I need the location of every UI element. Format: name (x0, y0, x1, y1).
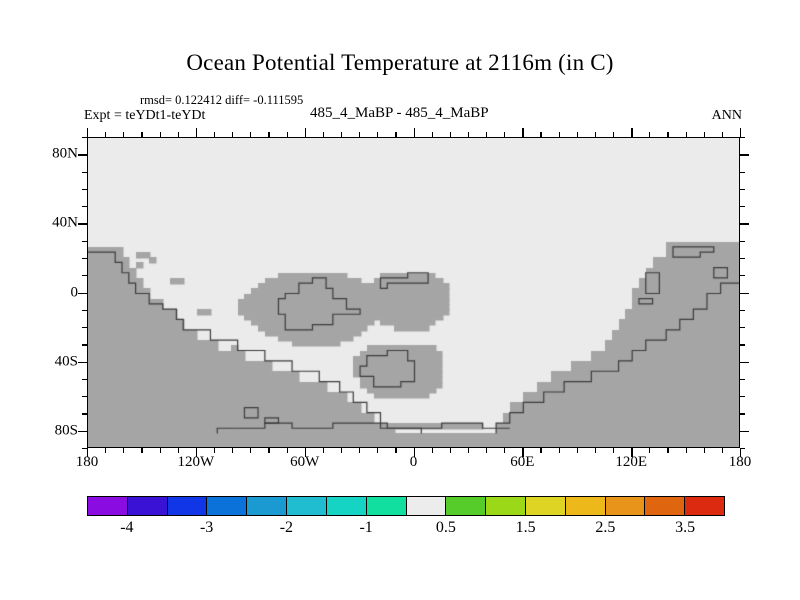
x-tick (105, 448, 106, 453)
x-tick (232, 448, 233, 453)
x-tick (667, 448, 668, 453)
colorbar-tick-label-1: -3 (200, 519, 213, 537)
x-tick (214, 448, 215, 453)
colorbar-swatch-5 (287, 497, 327, 515)
y-tick (82, 258, 87, 259)
y-tick-right (740, 327, 745, 328)
experiment-label: Expt = teYDt1-teYDt (84, 108, 205, 124)
x-axis-label-3: 0 (410, 454, 418, 471)
x-tick-top (250, 132, 251, 137)
y-tick-right (740, 362, 749, 363)
x-tick (722, 448, 723, 453)
x-tick (250, 448, 251, 453)
colorbar-swatch-14 (645, 497, 685, 515)
y-axis-label-2: 0 (71, 284, 79, 301)
x-tick-top (341, 132, 342, 137)
x-tick-top (395, 132, 396, 137)
y-tick-right (740, 206, 745, 207)
y-tick-right (740, 275, 745, 276)
y-tick (82, 379, 87, 380)
colorbar-tick-label-4: 0.5 (436, 519, 456, 537)
x-tick-top (305, 128, 306, 137)
x-tick (450, 448, 451, 453)
x-tick-top (160, 132, 161, 137)
y-tick (82, 344, 87, 345)
x-tick-top (722, 132, 723, 137)
x-tick-top (631, 128, 632, 137)
colorbar-tick-label-0: -4 (120, 519, 133, 537)
y-tick-right (740, 448, 745, 449)
colorbar-tick-label-3: -1 (359, 519, 372, 537)
x-tick-top (414, 128, 415, 137)
x-tick (268, 448, 269, 453)
y-tick-right (740, 258, 745, 259)
x-tick (704, 448, 705, 453)
x-tick-top (323, 132, 324, 137)
x-tick-top (268, 132, 269, 137)
y-tick (78, 362, 87, 363)
x-tick-top (486, 132, 487, 137)
y-tick (82, 137, 87, 138)
x-tick (141, 448, 142, 453)
x-tick (559, 448, 560, 453)
y-tick (82, 448, 87, 449)
y-tick (82, 327, 87, 328)
y-tick-right (740, 293, 749, 294)
x-axis-label-5: 120E (615, 454, 647, 471)
y-tick-right (740, 172, 745, 173)
colorbar-swatch-11 (526, 497, 566, 515)
y-tick-right (740, 189, 745, 190)
x-tick (359, 448, 360, 453)
x-tick-top (105, 132, 106, 137)
case-comparison-label: 485_4_MaBP - 485_4_MaBP (310, 105, 489, 122)
x-tick-top (504, 132, 505, 137)
y-tick (82, 172, 87, 173)
page-title: Ocean Potential Temperature at 2116m (in… (0, 50, 800, 76)
x-tick-top (595, 132, 596, 137)
colorbar-tick-label-2: -2 (280, 519, 293, 537)
x-tick (486, 448, 487, 453)
colorbar-swatch-13 (606, 497, 646, 515)
x-tick (649, 448, 650, 453)
y-tick (82, 241, 87, 242)
y-tick-right (740, 344, 745, 345)
x-tick (540, 448, 541, 453)
x-tick (613, 448, 614, 453)
x-tick-top (686, 132, 687, 137)
x-tick (287, 448, 288, 453)
colorbar-swatch-9 (446, 497, 486, 515)
x-axis-label-6: 180 (729, 454, 752, 471)
colorbar-swatch-1 (128, 497, 168, 515)
x-tick (341, 448, 342, 453)
x-tick-top (450, 132, 451, 137)
y-tick-right (740, 137, 745, 138)
x-axis-label-2: 60W (290, 454, 319, 471)
x-tick (468, 448, 469, 453)
ocean-temperature-map (88, 138, 740, 448)
x-tick-top (232, 132, 233, 137)
y-tick (82, 275, 87, 276)
map-plot-area (87, 137, 740, 448)
x-tick-top (287, 132, 288, 137)
colorbar-swatch-10 (486, 497, 526, 515)
x-tick-top (123, 132, 124, 137)
x-tick-top (649, 132, 650, 137)
x-tick-top (178, 132, 179, 137)
colorbar-swatch-12 (566, 497, 606, 515)
x-tick-top (577, 132, 578, 137)
x-tick (123, 448, 124, 453)
x-tick (686, 448, 687, 453)
y-tick-right (740, 431, 749, 432)
x-tick-top (432, 132, 433, 137)
colorbar-swatch-4 (247, 497, 287, 515)
y-axis-label-1: 40N (52, 215, 78, 232)
x-tick-top (613, 132, 614, 137)
x-tick-top (704, 132, 705, 137)
y-tick-right (740, 241, 745, 242)
x-axis-label-4: 60E (510, 454, 534, 471)
colorbar-tick-label-5: 1.5 (516, 519, 536, 537)
season-label: ANN (712, 108, 742, 124)
colorbar-swatch-7 (367, 497, 407, 515)
x-tick-top (87, 128, 88, 137)
x-tick (377, 448, 378, 453)
colorbar-swatch-3 (207, 497, 247, 515)
colorbar-tick-label-6: 2.5 (595, 519, 615, 537)
x-tick (160, 448, 161, 453)
x-tick-top (468, 132, 469, 137)
x-axis-label-0: 180 (76, 454, 99, 471)
x-tick (395, 448, 396, 453)
x-tick-top (359, 132, 360, 137)
y-tick (82, 206, 87, 207)
y-tick-right (740, 379, 745, 380)
colorbar-swatch-0 (88, 497, 128, 515)
colorbar-tick-label-7: 3.5 (675, 519, 695, 537)
y-tick-right (740, 310, 745, 311)
y-tick (82, 189, 87, 190)
y-axis-label-0: 80N (52, 146, 78, 163)
y-tick-right (740, 396, 745, 397)
y-tick-right (740, 154, 749, 155)
x-tick-top (667, 132, 668, 137)
x-tick-top (196, 128, 197, 137)
colorbar-swatch-2 (168, 497, 208, 515)
x-tick (504, 448, 505, 453)
colorbar-swatch-15 (685, 497, 724, 515)
y-tick (78, 223, 87, 224)
y-tick (82, 396, 87, 397)
x-tick-top (740, 128, 741, 137)
x-tick-top (377, 132, 378, 137)
y-axis-label-3: 40S (55, 353, 78, 370)
x-tick (178, 448, 179, 453)
x-tick-top (141, 132, 142, 137)
y-tick (78, 293, 87, 294)
x-tick-top (540, 132, 541, 137)
x-tick (595, 448, 596, 453)
y-tick (82, 413, 87, 414)
y-tick (82, 310, 87, 311)
y-tick-right (740, 223, 749, 224)
y-tick (78, 431, 87, 432)
rmsd-statistics-label: rmsd= 0.122412 diff= -0.111595 (140, 93, 303, 108)
x-axis-label-1: 120W (177, 454, 214, 471)
x-tick (323, 448, 324, 453)
colorbar-swatch-6 (327, 497, 367, 515)
colorbar-swatch-8 (407, 497, 447, 515)
x-tick-top (522, 128, 523, 137)
x-tick (577, 448, 578, 453)
y-axis-label-4: 80S (55, 422, 78, 439)
x-tick-top (559, 132, 560, 137)
x-tick (432, 448, 433, 453)
y-tick-right (740, 413, 745, 414)
y-tick (78, 154, 87, 155)
x-tick-top (214, 132, 215, 137)
colorbar (87, 496, 725, 516)
